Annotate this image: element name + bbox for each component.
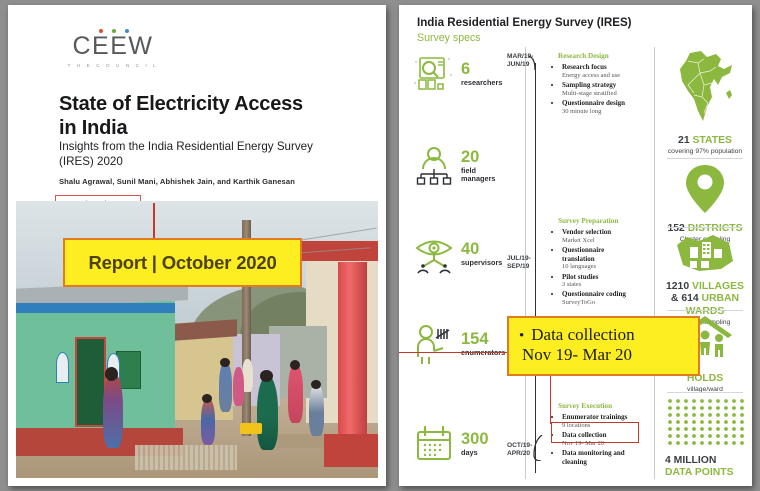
cover-authors: Shalu Agrawal, Sunil Mani, Abhishek Jain…	[59, 177, 349, 186]
cover-title: State of Electricity Access in India	[59, 93, 319, 140]
staff-row-researchers: 6 researchers	[413, 53, 521, 95]
zoom-callout-report-date-text: Report | October 2020	[88, 252, 276, 274]
callout-line-1: •Data collection	[519, 324, 694, 345]
stat-number: 1210	[666, 281, 689, 292]
infographic-subtitle: Survey specs	[417, 32, 481, 44]
stat-number-2: 614	[681, 293, 698, 304]
timeline-spine	[535, 63, 536, 473]
item-main: Questionnaire coding	[562, 290, 626, 298]
stat-households-caption: village/ward	[661, 386, 749, 394]
photo-person-sari	[288, 364, 303, 422]
timeline-item: Research focusEnergy access and use	[562, 63, 628, 80]
item-sub: Market Xcel	[562, 237, 628, 245]
photo-yellow-basket	[240, 423, 262, 434]
staff-label-field-managers: field managers	[461, 167, 495, 183]
stat-unit: VILLAGES	[692, 281, 744, 292]
timeline-items-survey-preparation: Vendor selectionMarket Xcel Questionnair…	[554, 228, 628, 308]
source-highlight-box-data-collection	[551, 422, 639, 443]
callout-line-1-text: Data collection	[531, 325, 634, 344]
stat-states-caption: covering 97% population	[661, 148, 749, 156]
staff-count-days: 300	[461, 431, 489, 448]
org-chart-person-icon	[413, 145, 455, 187]
item-main: Enumerator trainings	[562, 413, 627, 421]
item-sub: 10 languages	[562, 263, 628, 271]
column-divider-2	[654, 47, 655, 479]
survey-specs-infographic-page: India Residential Energy Survey (IRES) S…	[399, 5, 752, 486]
stat-data-points: 4 MILLION DATA POINTS	[661, 397, 749, 480]
zoom-callout-report-date: Report | October 2020	[63, 238, 302, 287]
item-sub: Energy access and use	[562, 72, 628, 80]
item-main: Research focus	[562, 63, 607, 71]
stat-conjunction: &	[671, 293, 679, 304]
timeline-date-1: MAR/19- JUN/19	[507, 53, 533, 69]
stat-villages-value: 1210 VILLAGES	[661, 281, 749, 293]
timeline-items-research-design: Research focusEnergy access and use Samp…	[554, 63, 628, 117]
photo-green-house-band	[16, 303, 175, 313]
logo-tagline: T H E C O U N C I L	[58, 63, 168, 68]
data-points-grid-icon	[661, 397, 749, 452]
stat-divider-4	[667, 392, 743, 393]
stat-divider-3	[667, 310, 743, 311]
timeline-item: Questionnaire translation10 languages	[562, 246, 628, 272]
photo-woman-green-sari	[257, 376, 279, 451]
callout-connector-left	[153, 203, 155, 238]
research-magnifier-icon	[413, 53, 455, 95]
photo-person-5	[233, 367, 244, 406]
timeline-item: Vendor selectionMarket Xcel	[562, 228, 628, 245]
staff-count-field-managers: 20	[461, 149, 495, 166]
item-main: Vendor selection	[562, 228, 611, 236]
photo-green-house	[16, 301, 175, 440]
zoom-callout-data-collection: •Data collection Nov 19- Mar 20	[507, 316, 700, 376]
staff-row-days: 300 days	[413, 423, 521, 465]
timeline-date-3: OCT/19- APR/20	[507, 442, 532, 458]
staff-row-enumerators: 154 enumerators	[413, 323, 521, 365]
stat-data-points-value: 4 MILLION	[661, 455, 749, 467]
photo-pillar-base	[324, 434, 378, 467]
item-main: Data monitoring and cleaning	[562, 449, 625, 466]
ceew-logo: CEEW T H E C O U N C I L	[58, 29, 168, 68]
callout-line-2: Nov 19- Mar 20	[519, 345, 694, 365]
photo-person-4	[219, 362, 232, 412]
logo-wordmark: CEEW	[58, 34, 168, 59]
photo-person-head-1	[105, 367, 118, 381]
timeline-heading-survey-preparation: Survey Preparation	[558, 217, 618, 225]
photo-green-house-door	[75, 337, 106, 427]
timeline-item: Questionnaire codingSurveyToGo	[562, 290, 628, 307]
item-main: Questionnaire design	[562, 99, 625, 107]
staff-label-supervisors: supervisors	[461, 259, 502, 267]
timeline-item: Sampling strategyMulti-stage stratified	[562, 81, 628, 98]
timeline-heading-survey-execution: Survey Execution	[558, 402, 612, 410]
photo-child-right	[309, 384, 323, 437]
enumerator-tally-icon	[413, 323, 455, 365]
photo-person-head-6	[290, 360, 300, 370]
item-sub: 30 minute long	[562, 108, 628, 116]
report-cover-page: CEEW T H E C O U N C I L State of Electr…	[8, 5, 386, 486]
infographic-title: India Residential Energy Survey (IRES)	[417, 16, 632, 29]
staff-row-field-managers: 20 field managers	[413, 145, 521, 187]
callout-bullet-icon: •	[519, 328, 524, 344]
stat-divider-1	[667, 158, 743, 159]
eye-supervisor-icon	[413, 233, 455, 275]
timeline-date-2: JUL/19- SEP/19	[507, 255, 531, 271]
stat-unit: STATES	[693, 135, 732, 146]
staff-label-researchers: researchers	[461, 79, 502, 87]
stat-divider-2	[667, 227, 743, 228]
stat-states-value: 21 STATES	[661, 135, 749, 147]
item-main: Questionnaire translation	[562, 246, 604, 263]
item-main: Sampling strategy	[562, 81, 616, 89]
stat-states: 21 STATES covering 97% population	[661, 49, 749, 157]
item-sub: Multi-stage stratified	[562, 90, 628, 98]
photo-wall-art-1	[56, 352, 69, 383]
photo-stone-path	[135, 445, 236, 470]
timeline-item: Data monitoring and cleaning	[562, 449, 642, 467]
staff-count-enumerators: 154	[461, 331, 505, 348]
staff-count-supervisors: 40	[461, 241, 502, 258]
timeline-heading-research-design: Research Design	[558, 52, 609, 60]
staff-label-enumerators: enumerators	[461, 349, 505, 357]
staff-label-days: days	[461, 449, 489, 457]
photo-person-head-4	[220, 358, 229, 367]
india-map-icon	[661, 49, 749, 132]
stat-data-points-unit: DATA POINTS	[661, 467, 749, 479]
staff-count-researchers: 6	[461, 61, 502, 78]
item-main: Pilot studies	[562, 273, 598, 281]
item-sub: SurveyToGo	[562, 299, 628, 307]
screenshot-stage: CEEW T H E C O U N C I L State of Electr…	[0, 0, 760, 491]
timeline-item: Questionnaire design30 minute long	[562, 99, 628, 116]
village-buildings-icon	[661, 231, 749, 278]
item-sub: 3 states	[562, 281, 628, 289]
photo-person-head-7	[311, 380, 320, 389]
timeline-item: Pilot studies3 states	[562, 273, 628, 290]
photo-person-woman-door	[103, 373, 123, 448]
stat-number: 21	[678, 135, 690, 146]
staff-row-supervisors: 40 supervisors	[413, 233, 521, 275]
calendar-icon	[413, 423, 455, 465]
cover-subtitle: Insights from the India Residential Ener…	[59, 139, 314, 170]
photo-child-center	[201, 398, 215, 445]
map-pin-icon	[661, 163, 749, 220]
